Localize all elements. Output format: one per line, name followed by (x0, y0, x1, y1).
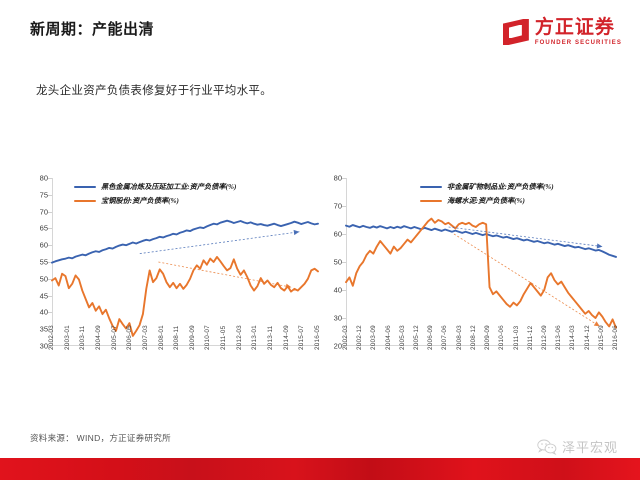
y-axis-tick-label: 40 (334, 286, 342, 295)
series-layer (52, 178, 318, 346)
slide-body-text: 龙头企业资产负债表修复好于行业平均水平。 (36, 82, 272, 98)
page-title: 新周期：产能出清 (30, 18, 154, 39)
x-axis-tick-label: 2008-01 (158, 325, 165, 350)
blue-trend-arrow (140, 232, 300, 254)
y-axis-tick-label: 50 (334, 258, 342, 267)
x-axis-tick-label: 2010-06 (498, 325, 505, 350)
series-line (52, 221, 318, 263)
slide-canvas: 新周期：产能出清 方正证券 FOUNDER SECURITIES 龙头企业资产负… (0, 0, 640, 480)
source-note: 资料来源： WIND，方正证券研究所 (30, 432, 171, 444)
series-line (346, 225, 616, 257)
x-axis-tick-label: 2010-07 (204, 325, 211, 350)
founder-cube-icon (503, 19, 529, 45)
x-axis-tick-label: 2015-09 (598, 325, 605, 350)
y-axis-tick-label: 75 (40, 190, 48, 199)
chart-debt-ratio-cement: 非金属矿物制品业:资产负债率(%)海螺水泥:资产负债率(%)8070605040… (320, 178, 620, 393)
x-axis-tick-label: 2014-09 (283, 325, 290, 350)
footer-accent-bar (0, 458, 640, 480)
x-axis-tick-label: 2011-05 (220, 326, 227, 350)
plot-area: 80706050403020 (346, 178, 616, 346)
x-axis-labels: 2002-032003-012003-112004-092005-072006-… (52, 346, 318, 394)
x-axis-tick-label: 2008-11 (173, 326, 180, 350)
x-axis-labels: 2002-032002-122003-092004-062005-032005-… (346, 346, 616, 394)
y-axis-tick-label: 70 (334, 202, 342, 211)
x-axis-tick-label: 2006-09 (427, 325, 434, 350)
x-axis-tick-label: 2015-07 (298, 325, 305, 350)
logo-name-cn: 方正证券 (535, 18, 622, 37)
x-axis-tick-label: 2012-09 (541, 325, 548, 350)
series-layer (346, 178, 616, 346)
wechat-watermark: 泽平宏观 (537, 437, 618, 456)
x-axis-tick-label: 2013-06 (555, 325, 562, 350)
y-axis-tick-label: 60 (40, 241, 48, 250)
y-axis-tick-label: 70 (40, 207, 48, 216)
y-axis-tick-label: 20 (334, 342, 342, 351)
x-axis-tick-label: 2012-03 (236, 325, 243, 350)
y-axis-tick-label: 55 (40, 258, 48, 267)
x-axis-tick-label: 2013-01 (251, 325, 258, 350)
x-axis-tick-label: 2002-12 (356, 325, 363, 350)
wechat-icon (537, 439, 557, 455)
y-axis-tick-label: 30 (334, 314, 342, 323)
chart-debt-ratio-steel: 黑色金属冶炼及压延加工业:资产负债率(%)宝钢股份:资产负债率(%)807570… (26, 178, 322, 393)
x-axis-tick-label: 2009-09 (189, 325, 196, 350)
blue-trend-arrow (449, 227, 603, 247)
x-axis-tick-label: 2011-03 (513, 326, 520, 350)
y-axis-tick-label: 40 (40, 308, 48, 317)
x-axis-tick-label: 2011-12 (527, 326, 534, 350)
x-axis-tick-label: 2003-01 (64, 325, 71, 350)
orange-trend-arrow-head (286, 284, 292, 289)
x-axis-tick-label: 2014-03 (569, 325, 576, 350)
x-axis-tick-label: 2003-11 (79, 326, 86, 350)
x-axis-tick-label: 2008-12 (470, 325, 477, 350)
x-axis-tick-label: 2014-12 (584, 325, 591, 350)
x-axis-tick-label: 2009-09 (484, 325, 491, 350)
y-axis-tick-label: 35 (40, 325, 48, 334)
x-axis-tick-label: 2013-11 (267, 326, 274, 350)
x-axis-tick-label: 2004-06 (385, 325, 392, 350)
x-axis-tick-label: 2005-12 (413, 325, 420, 350)
y-axis-tick-label: 65 (40, 224, 48, 233)
y-axis-tick-label: 30 (40, 342, 48, 351)
x-axis-tick-label: 2005-03 (399, 325, 406, 350)
plot-area: 8075706560555045403530 (52, 178, 318, 346)
y-axis-tick-label: 50 (40, 274, 48, 283)
x-axis-tick-label: 2002-03 (342, 325, 349, 350)
y-axis-tick-label: 45 (40, 291, 48, 300)
x-axis-tick-label: 2007-06 (441, 325, 448, 350)
x-axis-tick-label: 2004-09 (95, 325, 102, 350)
x-axis-tick-label: 2008-03 (456, 325, 463, 350)
logo-name-en: FOUNDER SECURITIES (535, 40, 622, 46)
y-axis-tick-label: 60 (334, 230, 342, 239)
orange-trend-arrow (158, 262, 291, 287)
series-line (52, 257, 318, 336)
y-axis-tick-label: 80 (40, 174, 48, 183)
blue-trend-arrow-head (294, 230, 300, 235)
x-axis-tick-label: 2003-09 (370, 325, 377, 350)
x-axis-tick-label: 2006-05 (126, 325, 133, 350)
founder-securities-logo: 方正证券 FOUNDER SECURITIES (503, 18, 622, 46)
x-axis-tick-label: 2002-03 (48, 325, 55, 350)
x-axis-tick-label: 2016-06 (612, 325, 619, 350)
x-axis-tick-label: 2007-03 (142, 325, 149, 350)
y-axis-tick-label: 80 (334, 174, 342, 183)
x-axis-tick-label: 2005-07 (111, 325, 118, 350)
blue-trend-arrow-head (597, 243, 603, 248)
wechat-account-name: 泽平宏观 (562, 437, 618, 456)
